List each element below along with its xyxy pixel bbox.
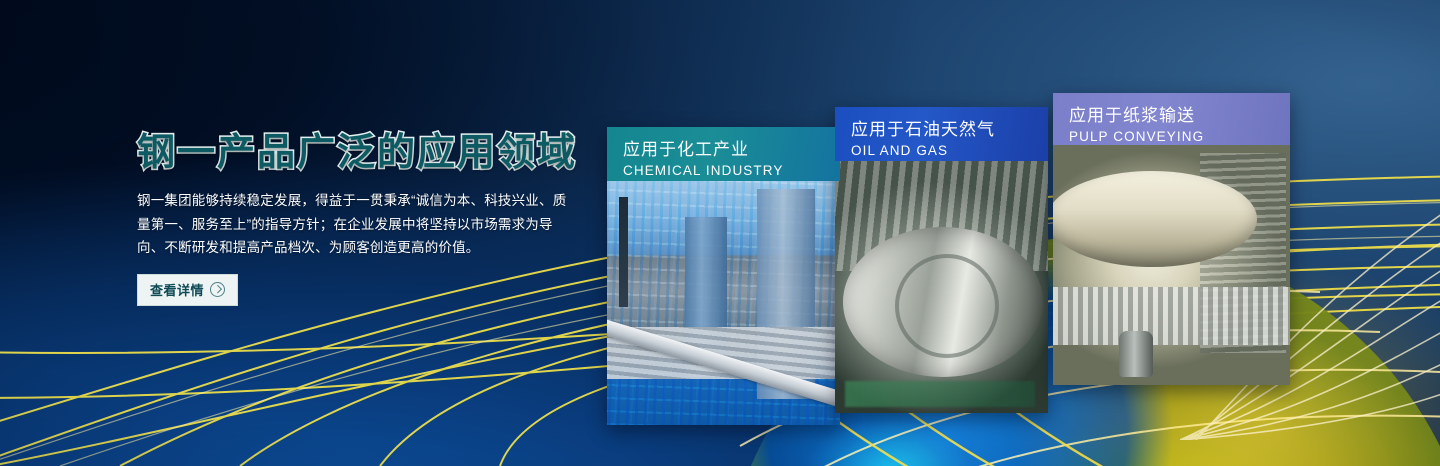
card-pulp-label: 应用于纸浆输送 PULP CONVEYING: [1053, 93, 1290, 145]
card-pulp-conveying[interactable]: 应用于纸浆输送 PULP CONVEYING: [1053, 93, 1290, 385]
view-details-label: 查看详情: [150, 280, 204, 299]
card-pulp-roller: [1053, 171, 1257, 267]
card-pulp-valve: [1119, 331, 1153, 377]
page-title: 钢一产品广泛的应用领域: [137, 131, 597, 175]
card-oil-and-gas[interactable]: 应用于石油天然气 OIL AND GAS: [835, 107, 1048, 413]
chevron-right-circle-icon: [210, 282, 225, 297]
card-oilgas-ground: [845, 381, 1035, 407]
card-pulp-conveyor: [1053, 287, 1290, 345]
card-oilgas-label: 应用于石油天然气 OIL AND GAS: [835, 107, 1048, 161]
card-chemical-title-en: CHEMICAL INDUSTRY: [623, 161, 824, 180]
card-chemical-label: 应用于化工产业 CHEMICAL INDUSTRY: [607, 127, 840, 181]
card-oilgas-drum: [843, 227, 1043, 377]
hero-banner: 钢一产品广泛的应用领域 钢一集团能够持续稳定发展，得益于一贯秉承“诚信为本、科技…: [0, 0, 1440, 466]
card-pulp-title-en: PULP CONVEYING: [1069, 127, 1274, 146]
card-oilgas-title-en: OIL AND GAS: [851, 141, 1032, 160]
hero-description: 钢一集团能够持续稳定发展，得益于一贯秉承“诚信为本、科技兴业、质量第一、服务至上…: [137, 189, 577, 260]
card-chemical-smokestack: [619, 197, 628, 307]
card-pulp-title-zh: 应用于纸浆输送: [1069, 104, 1274, 127]
card-chemical-industry[interactable]: 应用于化工产业 CHEMICAL INDUSTRY: [607, 127, 840, 425]
card-chemical-title-zh: 应用于化工产业: [623, 138, 824, 161]
view-details-button[interactable]: 查看详情: [137, 274, 238, 306]
hero-copy: 钢一产品广泛的应用领域 钢一集团能够持续稳定发展，得益于一贯秉承“诚信为本、科技…: [137, 131, 597, 306]
card-oilgas-title-zh: 应用于石油天然气: [851, 118, 1032, 141]
